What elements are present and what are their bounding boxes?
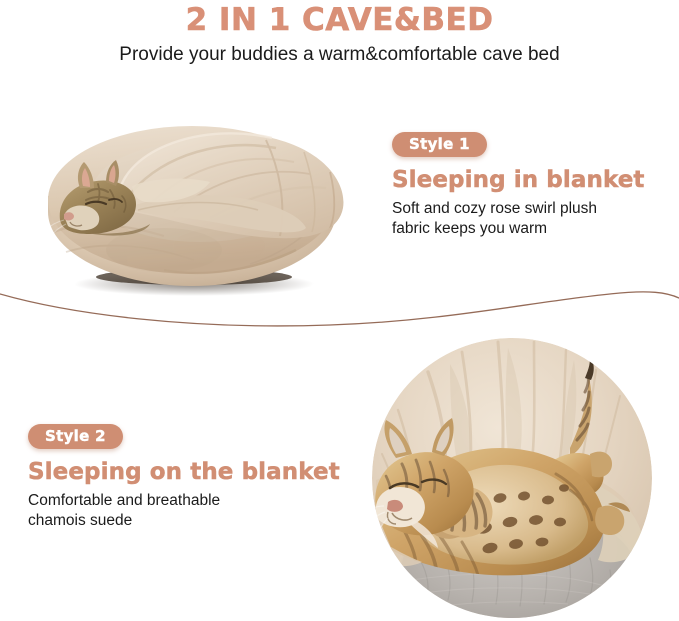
- style-2-description-line-2: chamois suede: [28, 512, 132, 529]
- style-1-description-line-2: fabric keeps you warm: [392, 220, 547, 237]
- photo-flat-blanket-mat-cat-on-top: [358, 330, 666, 618]
- style-2-headline: Sleeping on the blanket: [28, 459, 340, 485]
- page-subtitle: Provide your buddies a warm&comfortable …: [0, 44, 679, 66]
- style-2-block: Style 2 Sleeping on the blanket Comforta…: [28, 424, 340, 530]
- style-1-headline: Sleeping in blanket: [392, 167, 645, 193]
- photo-cave-bed-cat-inside-blanket: [14, 100, 364, 300]
- style-2-description-line-1: Comfortable and breathable: [28, 492, 220, 509]
- page-title: 2 IN 1 CAVE&BED: [0, 2, 679, 38]
- style-1-description: Soft and cozy rose swirl plush fabric ke…: [392, 199, 645, 238]
- poster-canvas: 2 IN 1 CAVE&BED Provide your buddies a w…: [0, 0, 679, 621]
- style-1-description-line-1: Soft and cozy rose swirl plush: [392, 200, 597, 217]
- wavy-divider: [0, 278, 679, 338]
- style-2-description: Comfortable and breathable chamois suede: [28, 491, 278, 530]
- style-1-badge: Style 1: [392, 132, 487, 157]
- style-2-badge: Style 2: [28, 424, 123, 449]
- style-1-block: Style 1 Sleeping in blanket Soft and coz…: [392, 132, 645, 238]
